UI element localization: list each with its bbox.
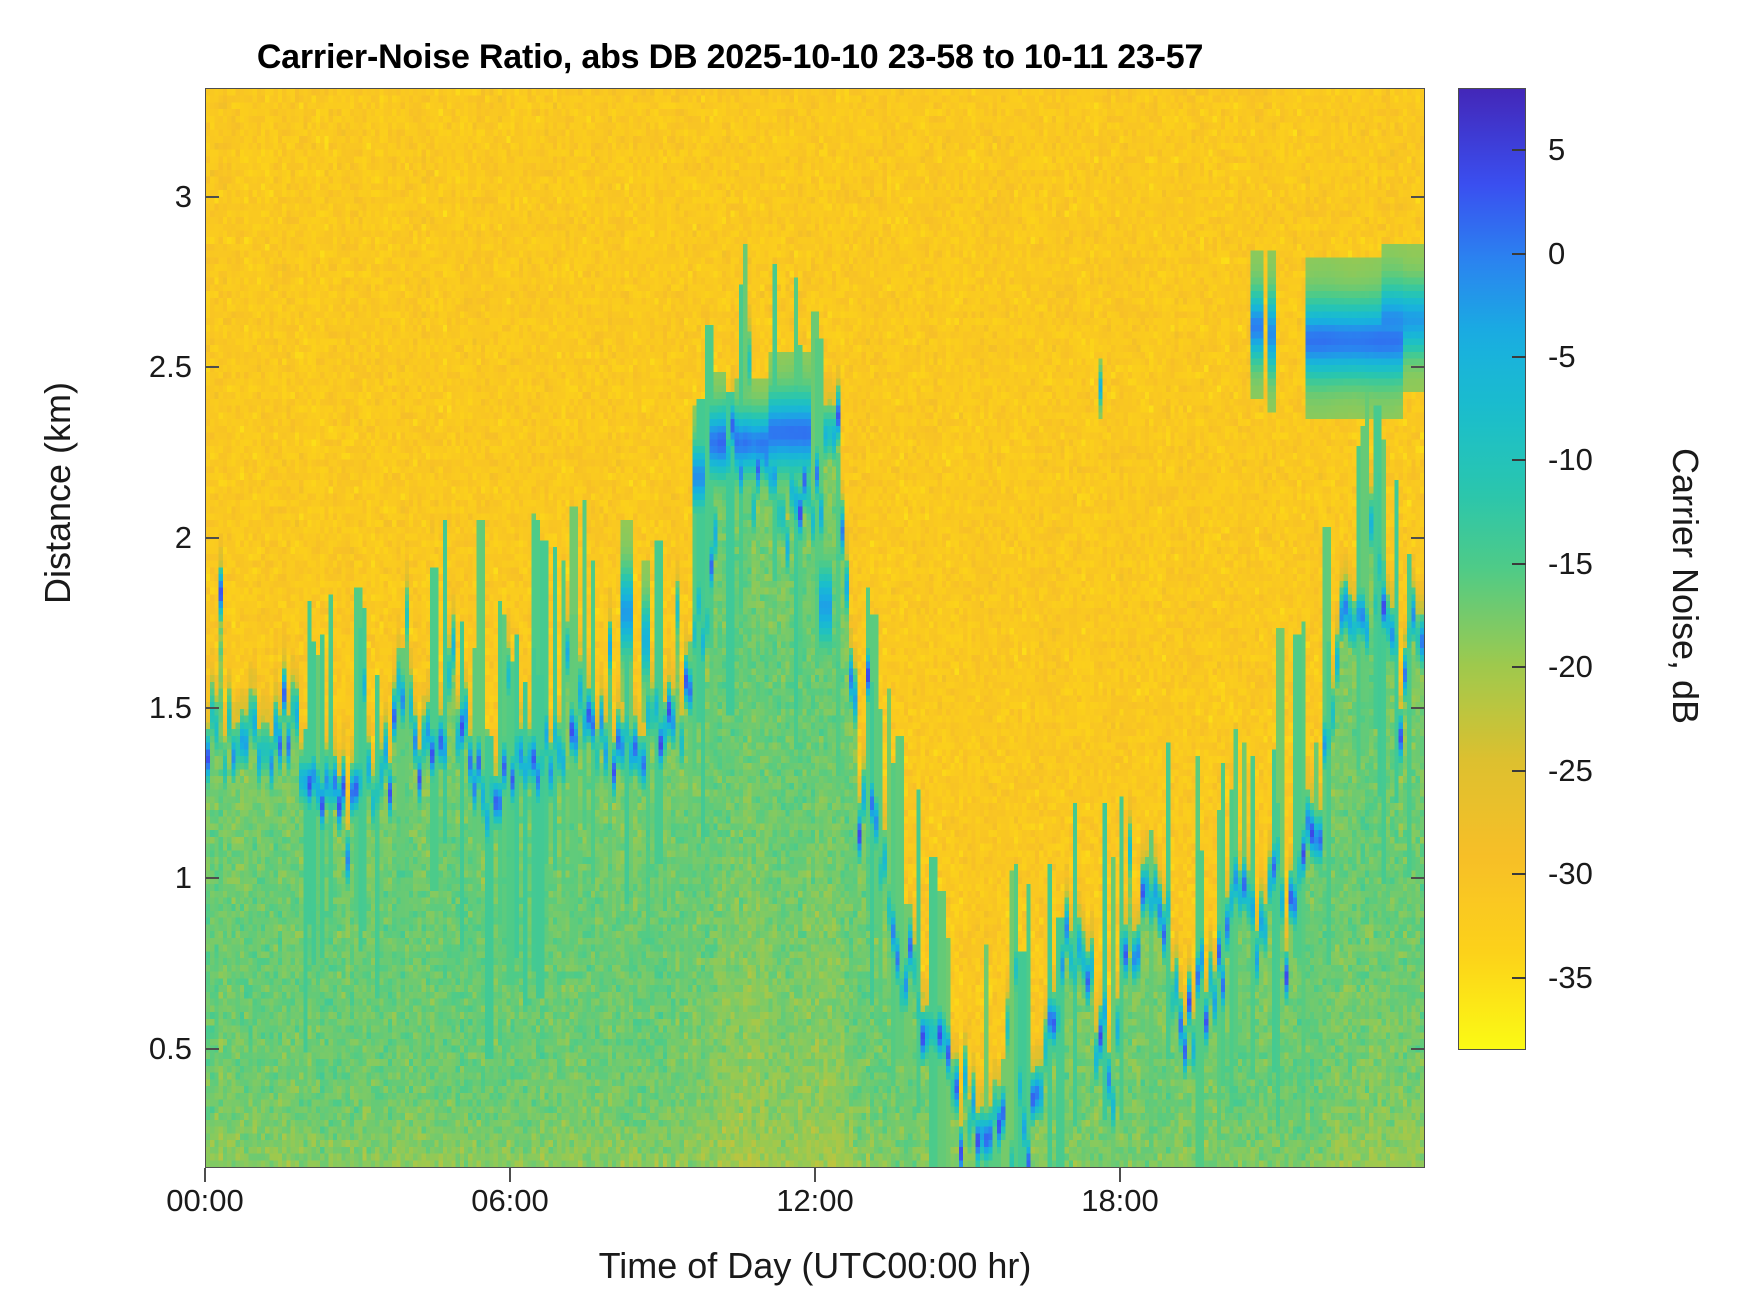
colorbar-tick-mark	[1512, 459, 1526, 461]
y-tick-label-1: 1	[72, 860, 192, 896]
y-tick-label-2: 2	[72, 520, 192, 556]
x-axis-label: Time of Day (UTC00:00 hr)	[205, 1245, 1425, 1287]
colorbar-tick-mark	[1512, 770, 1526, 772]
x-tick-mark	[509, 1168, 511, 1182]
y-tick-mark	[1411, 877, 1425, 879]
y-tick-label-1p5: 1.5	[72, 690, 192, 726]
heatmap-plot-area	[205, 88, 1425, 1168]
x-tick-label-1800: 18:00	[1020, 1183, 1220, 1219]
colorbar	[1458, 88, 1526, 1050]
y-tick-label-0p5: 0.5	[72, 1031, 192, 1067]
colorbar-label: Carrier Noise, dB	[1664, 376, 1706, 796]
y-tick-mark	[1411, 196, 1425, 198]
x-tick-mark	[1119, 1168, 1121, 1182]
colorbar-tick-mark	[1512, 253, 1526, 255]
x-tick-label-1200: 12:00	[715, 1183, 915, 1219]
y-tick-mark	[205, 707, 219, 709]
colorbar-tick-mark	[1512, 356, 1526, 358]
x-tick-label-0000: 00:00	[105, 1183, 305, 1219]
y-tick-label-3: 3	[72, 179, 192, 215]
colorbar-gradient	[1459, 89, 1525, 1049]
figure-root: Carrier-Noise Ratio, abs DB 2025-10-10 2…	[0, 0, 1750, 1313]
y-tick-mark	[1411, 537, 1425, 539]
y-tick-mark	[205, 366, 219, 368]
x-tick-mark	[204, 1168, 206, 1182]
colorbar-tick-mark	[1512, 666, 1526, 668]
heatmap-canvas	[206, 89, 1424, 1167]
colorbar-tick-mark	[1512, 977, 1526, 979]
colorbar-tick-label-neg15: -15	[1548, 546, 1593, 582]
x-tick-mark	[814, 1168, 816, 1182]
y-tick-mark	[1411, 1048, 1425, 1050]
colorbar-tick-label-neg25: -25	[1548, 753, 1593, 789]
x-tick-label-0600: 06:00	[410, 1183, 610, 1219]
page-title: Carrier-Noise Ratio, abs DB 2025-10-10 2…	[0, 38, 1460, 77]
colorbar-tick-mark	[1512, 873, 1526, 875]
colorbar-tick-label-neg30: -30	[1548, 856, 1593, 892]
colorbar-tick-label-neg20: -20	[1548, 649, 1593, 685]
y-tick-mark	[1411, 366, 1425, 368]
y-tick-label-2p5: 2.5	[72, 349, 192, 385]
colorbar-tick-label-neg5: -5	[1548, 339, 1576, 375]
y-tick-mark	[205, 537, 219, 539]
y-tick-mark	[205, 1048, 219, 1050]
y-tick-mark	[1411, 707, 1425, 709]
colorbar-tick-label-neg35: -35	[1548, 960, 1593, 996]
y-tick-mark	[205, 196, 219, 198]
colorbar-tick-label-neg10: -10	[1548, 442, 1593, 478]
y-tick-mark	[205, 877, 219, 879]
colorbar-tick-mark	[1512, 563, 1526, 565]
colorbar-tick-label-0: 0	[1548, 236, 1565, 272]
colorbar-tick-label-5: 5	[1548, 132, 1565, 168]
colorbar-tick-mark	[1512, 149, 1526, 151]
